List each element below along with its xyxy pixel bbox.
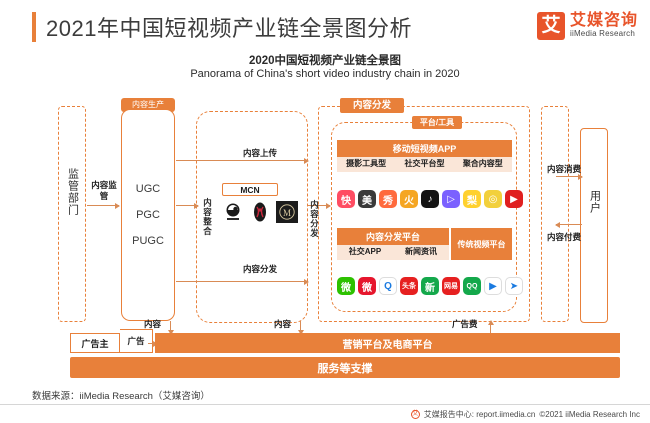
mobile-app-group-subs: 摄影工具型 社交平台型 聚合内容型 [337, 157, 512, 172]
logo-text-en: iiMedia Research [570, 29, 638, 39]
infographic-root: 2021年中国短视频产业链全景图分析 艾 艾媒咨询 iiMedia Resear… [0, 0, 650, 423]
subtitle-en: Panorama of China's short video industry… [0, 68, 650, 80]
production-item-ugc: UGC [136, 183, 160, 195]
title-accent-bar [32, 12, 36, 42]
distribution-tab: 内容分发 [340, 98, 404, 113]
brand-logo: 艾 艾媒咨询 iiMedia Research [537, 12, 638, 40]
distribution-platform-subs: 社交APP 新闻资讯 [337, 245, 449, 260]
service-support-bar: 服务等支撑 [70, 357, 620, 378]
toutiao-icon[interactable]: 头条 [400, 277, 418, 295]
flow-content-distribution-bottom-label: 内容分发 [243, 263, 277, 275]
flow-content-upload-arrow [176, 160, 308, 161]
tencent-video-icon[interactable]: ➤ [505, 277, 523, 295]
subtitle-cn: 2020中国短视频产业链全景图 [0, 52, 650, 68]
footer-report-center: 艾媒报告中心: report.iimedia.cn [424, 409, 536, 420]
flow-content-supervision-label: 内容监管 [90, 180, 118, 202]
weibo-icon[interactable]: 微 [358, 277, 376, 295]
distribution-platform-icon-row: 微微Q头条新网易QQ▶➤ [337, 277, 523, 295]
wechat-icon[interactable]: 微 [337, 277, 355, 295]
flow-ad-fee-label: 广告费 [452, 318, 478, 330]
ad-label-box: 广告 [120, 329, 153, 353]
regulator-label: 监管部门 [62, 168, 82, 221]
flow-content-consumption-arrow [556, 176, 582, 177]
footer-divider [0, 404, 650, 405]
logo-mark-icon: 艾 [537, 12, 565, 40]
mobile-app-sub-2: 聚合内容型 [454, 157, 512, 172]
mobile-app-group-header: 移动短视频APP [337, 140, 512, 157]
flow-content-distribution-bottom-arrow [176, 281, 308, 282]
advertiser-box: 广告主 [70, 333, 120, 353]
papitube-logo-icon [222, 201, 244, 223]
ruhan-logo-icon [249, 201, 271, 223]
footer-logo-icon: 艾 [411, 410, 420, 419]
flow-content-payment-label: 内容付费 [547, 231, 581, 243]
sina-news-icon[interactable]: 新 [421, 277, 439, 295]
page-title: 2021年中国短视频产业链全景图分析 [46, 11, 412, 43]
flow-content-integration-label: 内容整合 [203, 198, 212, 241]
user-dashed-box [541, 106, 569, 322]
mobile-app-icon-row: 快美秀火♪▷梨◎▶ [337, 190, 523, 208]
production-item-pugc: PUGC [132, 235, 164, 247]
content-production-box: UGC PGC PUGC [121, 109, 175, 321]
flow-content-payment-arrow [556, 224, 582, 225]
mobile-app-sub-0: 摄影工具型 [337, 157, 395, 172]
platform-tools-tab: 平台/工具 [412, 116, 462, 129]
user-box [580, 128, 608, 323]
svg-text:M: M [283, 208, 291, 218]
netease-icon[interactable]: 网易 [442, 277, 460, 295]
xigua-icon[interactable]: ▷ [442, 190, 460, 208]
volcano-icon[interactable]: 火 [400, 190, 418, 208]
qq-icon[interactable]: Q [379, 277, 397, 295]
flow-content-supervision-arrow [87, 205, 119, 206]
mcn-label-box: MCN [222, 183, 278, 196]
data-source-text: 数据来源：iiMedia Research（艾媒咨询） [32, 388, 210, 402]
mcn-m-logo-icon: M [276, 201, 298, 223]
pear-video-icon[interactable]: 梨 [463, 190, 481, 208]
logo-text-cn: 艾媒咨询 [570, 13, 638, 29]
flow-content-integration-arrow [176, 205, 198, 206]
footer-copyright: ©2021 iiMedia Research Inc [539, 410, 640, 419]
distribution-platform-header: 内容分发平台 [337, 228, 449, 245]
dist-platform-sub-1: 新闻资讯 [393, 245, 449, 260]
qq-browser-icon[interactable]: QQ [463, 277, 481, 295]
xiaokaxiu-icon[interactable]: 秀 [379, 190, 397, 208]
dist-platform-sub-0: 社交APP [337, 245, 393, 260]
weishi-icon[interactable]: ◎ [484, 190, 502, 208]
youku-icon[interactable]: ▶ [484, 277, 502, 295]
production-item-pgc: PGC [136, 209, 160, 221]
douyin-icon[interactable]: ♪ [421, 190, 439, 208]
flow-content-consumption-label: 内容消费 [547, 163, 581, 175]
mobile-app-sub-1: 社交平台型 [395, 157, 453, 172]
kuaishou-icon[interactable]: 快 [337, 190, 355, 208]
meipai-icon[interactable]: 美 [358, 190, 376, 208]
flow-content-mid-label: 内容 [274, 318, 291, 330]
flow-content-upload-label: 内容上传 [243, 147, 277, 159]
marketing-ecommerce-bar: 营销平台及电商平台 [155, 333, 620, 353]
user-label: 用户 [584, 190, 604, 219]
traditional-video-platform-header: 传统视频平台 [451, 228, 512, 260]
youtube-style-icon[interactable]: ▶ [505, 190, 523, 208]
footer-credits: 艾 艾媒报告中心: report.iimedia.cn ©2021 iiMedi… [411, 409, 640, 420]
